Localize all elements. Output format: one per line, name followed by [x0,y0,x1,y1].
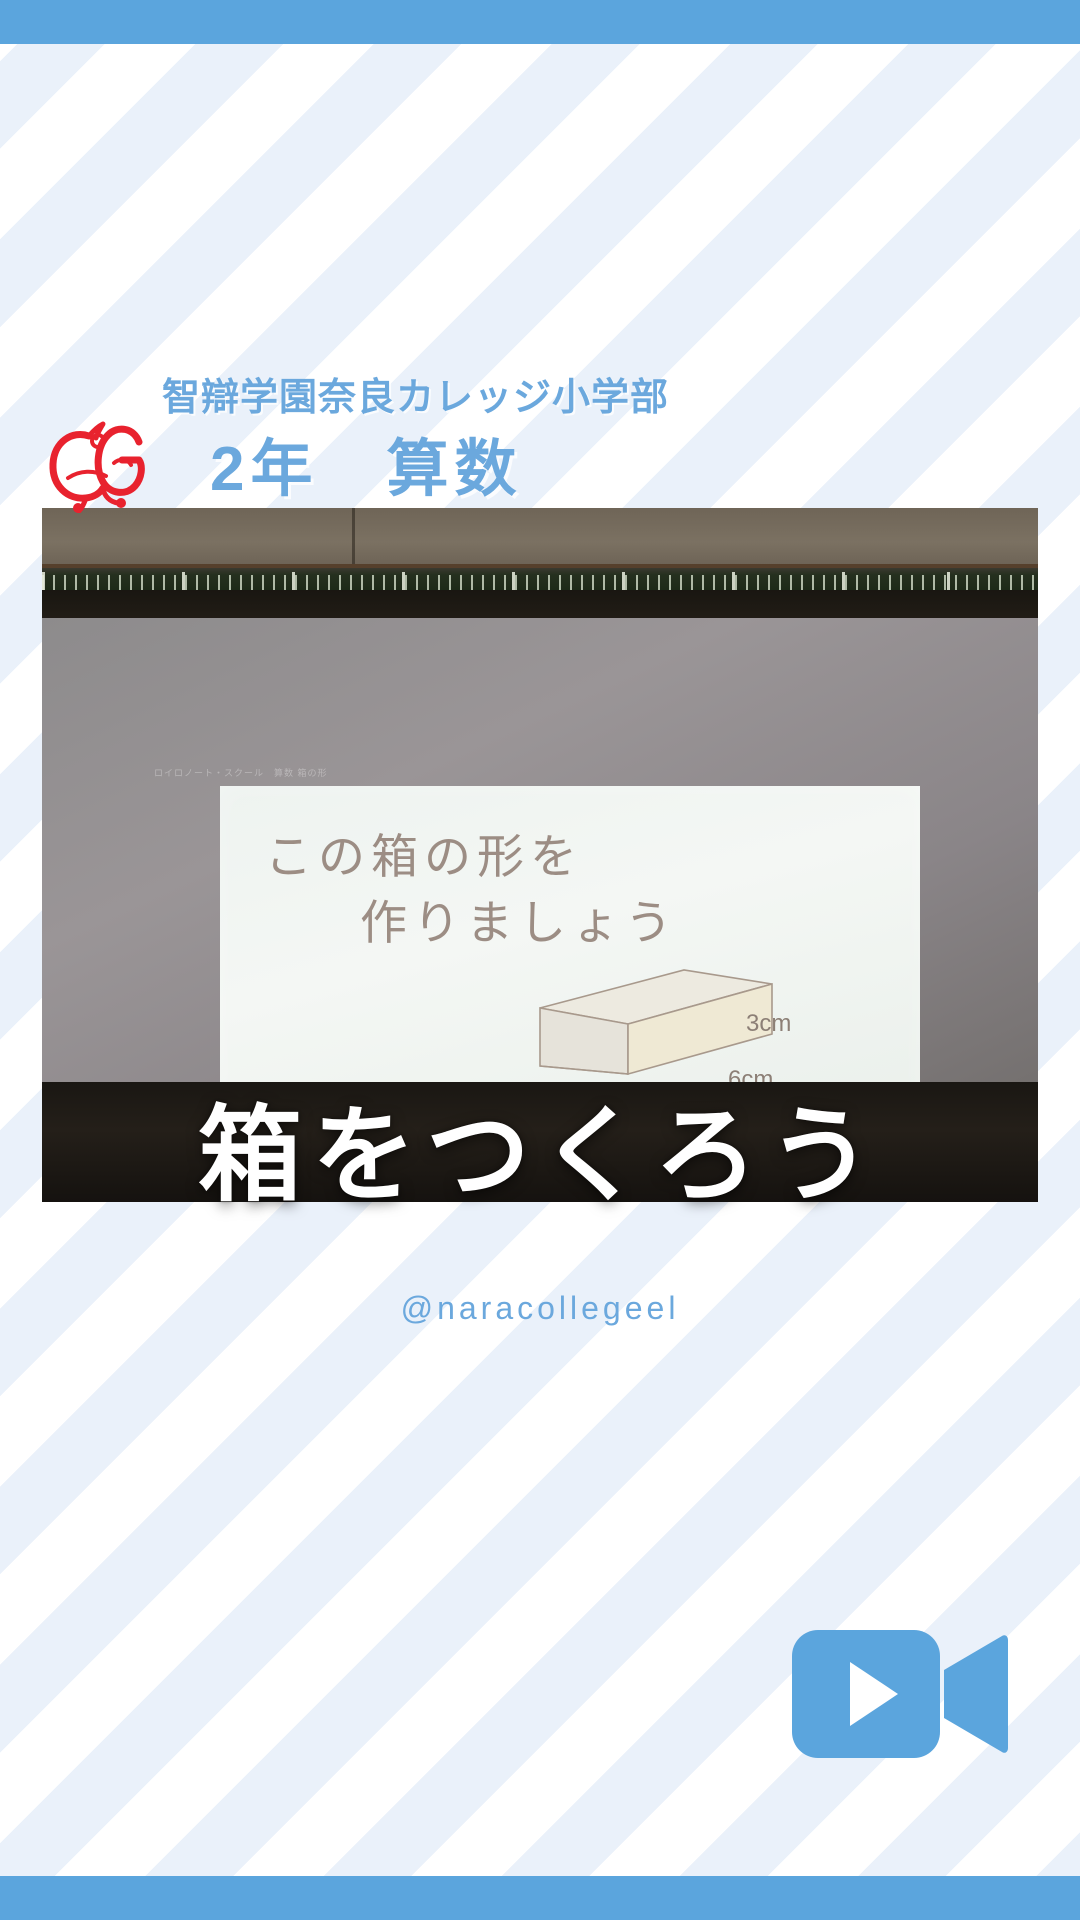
cg-monogram-logo-icon [42,408,152,513]
ceiling-band [42,508,1038,570]
rail-divider [402,572,405,590]
os-titlebar-text: ロイロノート・スクール 算数 箱の形 [154,766,328,779]
video-camera-icon[interactable] [792,1618,1008,1770]
rail-divider [42,572,45,590]
chalk-rail [42,568,1038,590]
rail-divider [512,572,515,590]
account-handle[interactable]: @naracollegeel [0,1290,1080,1327]
slide-text-line-2: 作りましょう [360,884,678,953]
header: 智辯学園奈良カレッジ小学部 2年 算数 [0,360,1080,510]
projection-wall: ロイロノート・スクール 算数 箱の形 この箱の形を 作りましょう 3cm 6cm… [42,618,1038,1088]
chalk-rail-ticks [42,575,1038,590]
rail-divider [732,572,735,590]
top-accent-bar [0,0,1080,44]
ceiling-seam [352,508,355,570]
upper-dark-band [42,590,1038,620]
rail-divider [842,572,845,590]
dimension-label-height: 3cm [746,1010,791,1038]
overlay-title: 箱をつくろう [0,1070,1080,1221]
rail-divider [622,572,625,590]
rail-divider [292,572,295,590]
rail-divider [947,572,950,590]
slide-text-line-1: この箱の形を [265,818,583,887]
grade-subject-title: 2年 算数 [210,418,522,508]
rail-divider [182,572,185,590]
bottom-accent-bar [0,1876,1080,1920]
school-name: 智辯学園奈良カレッジ小学部 [162,366,669,421]
